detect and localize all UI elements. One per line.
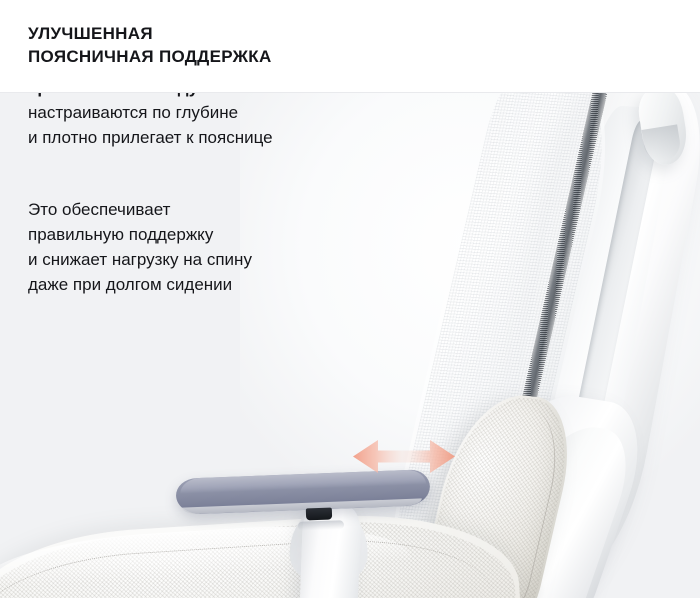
- armrest-adjust-button: [306, 508, 332, 521]
- armrest-height-slot: [298, 520, 344, 531]
- double-arrow-icon: [352, 434, 456, 479]
- paragraph-primary-regular: настраиваются по глубине и плотно прилег…: [28, 103, 273, 147]
- header-band: УЛУЧШЕННАЯ ПОЯСНИЧНАЯ ПОДДЕРЖКА: [0, 0, 700, 93]
- paragraph-secondary: Это обеспечивает правильную поддержку и …: [28, 197, 378, 297]
- page-title: УЛУЧШЕННАЯ ПОЯСНИЧНАЯ ПОДДЕРЖКА: [28, 22, 272, 68]
- header-divider: [0, 92, 700, 93]
- promo-slide: УЛУЧШЕННАЯ ПОЯСНИЧНАЯ ПОДДЕРЖКА: [0, 0, 700, 598]
